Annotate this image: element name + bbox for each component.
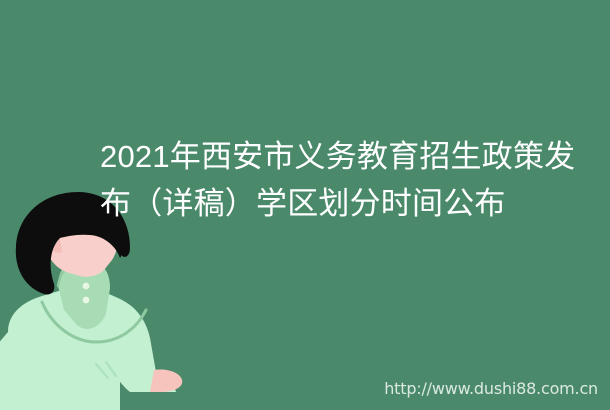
collar-button xyxy=(83,297,90,304)
banner-canvas: 2021年西安市义务教育招生政策发布（详稿）学区划分时间公布 http://ww… xyxy=(0,0,610,410)
watermark-url: http://www.dushi88.com.cn xyxy=(384,379,598,398)
page-title: 2021年西安市义务教育招生政策发布（详稿）学区划分时间公布 xyxy=(100,133,600,227)
hand xyxy=(150,369,182,392)
collar-button xyxy=(83,283,90,290)
